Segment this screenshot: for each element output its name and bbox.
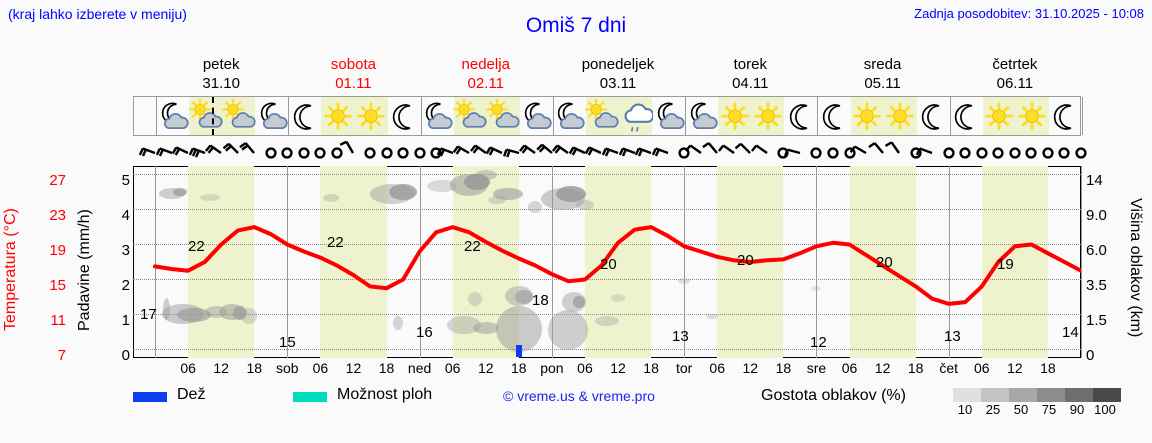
moon-icon: [949, 99, 983, 135]
sun-cloud-icon: [453, 99, 487, 135]
temperature-point-label: 17: [140, 306, 157, 323]
cloudheight-tick: 0: [1086, 347, 1120, 364]
moon-icon: [916, 99, 950, 135]
sun-icon: [850, 99, 884, 135]
x-tick-label: 06: [570, 360, 600, 376]
cloud-density-tick: 90: [1063, 402, 1091, 417]
sun-cloud-icon: [222, 99, 256, 135]
rain-swatch: [133, 392, 167, 402]
x-tick-label: sre: [801, 360, 831, 376]
temperature-tick: 27: [40, 172, 66, 189]
x-tick-label: 18: [768, 360, 798, 376]
sun-icon: [354, 99, 388, 135]
moon-icon: [784, 99, 818, 135]
chart-legend: Dež Možnost ploh © vreme.us & vreme.pro …: [133, 386, 1133, 412]
day-header-4: torek04.11: [684, 55, 816, 95]
x-tick-label: 06: [967, 360, 997, 376]
moon-icon: [784, 99, 818, 135]
day-date: 01.11: [287, 74, 419, 93]
moon-icon: [949, 99, 983, 135]
x-tick-label: 18: [1033, 360, 1063, 376]
temperature-axis-title: Temperatura (°C): [2, 170, 24, 370]
cloud-density-tick: 10: [951, 402, 979, 417]
x-tick-label: 12: [471, 360, 501, 376]
moon-cloud-icon: [420, 99, 454, 135]
day-name: sobota: [287, 55, 419, 74]
x-tick-label: 18: [901, 360, 931, 376]
rain-legend-label: Dež: [177, 386, 205, 404]
moon-cloud-icon: [255, 99, 289, 135]
day-name: sreda: [816, 55, 948, 74]
sun-icon: [718, 99, 752, 135]
moon-cloud-icon: [156, 99, 190, 135]
temperature-point-label: 14: [1062, 324, 1079, 341]
day-date: 31.10: [155, 74, 287, 93]
x-tick-label: tor: [669, 360, 699, 376]
moon-icon: [817, 99, 851, 135]
temperature-tick: 7: [40, 347, 66, 364]
cloud-density-swatch: [1093, 388, 1121, 402]
moon-cloud-icon: [420, 99, 454, 135]
temperature-point-label: 20: [876, 254, 893, 271]
temperature-point-label: 20: [737, 252, 754, 269]
cloud-density-swatch: [981, 388, 1009, 402]
day-name: ponedeljek: [552, 55, 684, 74]
x-tick-label: 18: [636, 360, 666, 376]
sun-icon: [982, 99, 1016, 135]
cloud-density-swatch: [1009, 388, 1037, 402]
x-tick-label: 18: [239, 360, 269, 376]
rain-cloud-icon: [619, 99, 653, 135]
precipitation-axis-title: Padavine (mm/h): [76, 170, 98, 370]
day-divider: [1081, 166, 1082, 358]
temperature-point-label: 15: [279, 334, 296, 351]
day-date: 05.11: [816, 74, 948, 93]
temperature-point-label: 20: [600, 256, 617, 273]
sun-icon: [850, 99, 884, 135]
sun-icon: [883, 99, 917, 135]
copyright-label[interactable]: © vreme.us & vreme.pro: [503, 388, 655, 404]
cloud-density-tick: 100: [1091, 402, 1119, 417]
x-tick-label: 06: [702, 360, 732, 376]
rain-cloud-icon: [619, 99, 653, 135]
sun-icon: [751, 99, 785, 135]
precipitation-tick: 4: [108, 207, 130, 224]
x-tick-label: 12: [206, 360, 236, 376]
cloudheight-axis: 149.06.03.51.50: [1086, 160, 1120, 370]
day-name: četrtek: [949, 55, 1081, 74]
cloud-density-swatch: [1037, 388, 1065, 402]
x-tick-label: 18: [372, 360, 402, 376]
x-tick-label: 06: [305, 360, 335, 376]
temperature-point-label: 16: [416, 324, 433, 341]
sun-cloud-icon: [585, 99, 619, 135]
x-tick-label: 12: [735, 360, 765, 376]
sun-cloud-icon: [486, 99, 520, 135]
day-headers: petek31.10sobota01.11nedelja02.11ponedel…: [133, 55, 1081, 95]
sun-icon: [718, 99, 752, 135]
day-name: nedelja: [420, 55, 552, 74]
moon-icon: [1048, 99, 1082, 135]
sun-icon: [1015, 99, 1049, 135]
temperature-point-label: 19: [997, 256, 1014, 273]
cloud-density-tick: 75: [1035, 402, 1063, 417]
precipitation-tick: 0: [108, 347, 130, 364]
sun-icon: [982, 99, 1016, 135]
x-tick-label: 06: [173, 360, 203, 376]
moon-icon: [387, 99, 421, 135]
temperature-tick: 23: [40, 207, 66, 224]
x-tick-label: 06: [438, 360, 468, 376]
temperature-tick: 11: [40, 312, 66, 329]
cloudheight-axis-title: Višina oblakov (km): [1122, 165, 1144, 370]
x-tick-label: čet: [934, 360, 964, 376]
precipitation-tick: 2: [108, 277, 130, 294]
sun-icon: [354, 99, 388, 135]
day-date: 03.11: [552, 74, 684, 93]
temperature-point-label: 13: [944, 328, 961, 345]
sun-icon: [883, 99, 917, 135]
moon-cloud-icon: [519, 99, 553, 135]
moon-cloud-icon: [519, 99, 553, 135]
moon-cloud-icon: [156, 99, 190, 135]
cloud-density-ticks: 1025507590100: [945, 402, 1125, 418]
temperature-point-label: 22: [188, 238, 205, 255]
cloud-density-swatch: [1065, 388, 1093, 402]
moon-icon: [387, 99, 421, 135]
x-tick-label: sob: [272, 360, 302, 376]
sun-cloud-icon: [453, 99, 487, 135]
day-header-5: sreda05.11: [816, 55, 948, 95]
showers-legend-label: Možnost ploh: [337, 386, 432, 404]
x-tick-label: 06: [835, 360, 865, 376]
x-axis-ticks: 061218sob061218ned061218pon061218tor0612…: [133, 360, 1081, 380]
day-header-3: ponedeljek03.11: [552, 55, 684, 95]
day-header-1: sobota01.11: [287, 55, 419, 95]
temperature-tick: 15: [40, 277, 66, 294]
sun-icon: [321, 99, 355, 135]
x-tick-label: pon: [537, 360, 567, 376]
cloud-density-scale: [953, 388, 1121, 402]
day-header-2: nedelja02.11: [420, 55, 552, 95]
moon-cloud-icon: [552, 99, 586, 135]
cloudheight-tick: 3.5: [1086, 277, 1120, 294]
x-tick-label: 12: [868, 360, 898, 376]
temperature-point-label: 12: [810, 334, 827, 351]
sun-icon: [321, 99, 355, 135]
day-date: 06.11: [949, 74, 1081, 93]
cloud-density-tick: 25: [979, 402, 1007, 417]
temperature-axis: 27231915117: [40, 160, 66, 370]
moon-icon: [1048, 99, 1082, 135]
moon-cloud-icon: [552, 99, 586, 135]
precipitation-tick: 1: [108, 312, 130, 329]
sun-icon: [1015, 99, 1049, 135]
moon-cloud-icon: [685, 99, 719, 135]
moon-icon: [288, 99, 322, 135]
cloud-density-swatch: [953, 388, 981, 402]
cloudheight-tick: 9.0: [1086, 207, 1120, 224]
temperature-point-label: 13: [672, 328, 689, 345]
day-date: 02.11: [420, 74, 552, 93]
cloud-density-tick: 50: [1007, 402, 1035, 417]
wind-barb-row: [133, 138, 1081, 164]
cloud-density-label: Gostota oblakov (%): [761, 387, 906, 405]
sun-cloud-icon: [585, 99, 619, 135]
cloudheight-tick: 6.0: [1086, 242, 1120, 259]
sun-cloud-icon: [486, 99, 520, 135]
temperature-point-label: 18: [532, 292, 549, 309]
sun-icon: [751, 99, 785, 135]
x-tick-label: 18: [504, 360, 534, 376]
x-tick-label: 12: [603, 360, 633, 376]
day-date: 04.11: [684, 74, 816, 93]
moon-icon: [817, 99, 851, 135]
x-tick-label: 12: [1000, 360, 1030, 376]
sun-cloud-icon: [189, 99, 223, 135]
moon-cloud-icon: [685, 99, 719, 135]
weather-icon-row: [133, 96, 1081, 136]
precipitation-tick: 3: [108, 242, 130, 259]
precipitation-tick: 5: [108, 172, 130, 189]
moon-icon: [288, 99, 322, 135]
x-tick-label: 12: [338, 360, 368, 376]
temperature-point-label: 22: [327, 234, 344, 251]
temperature-tick: 19: [40, 242, 66, 259]
sun-cloud-icon: [189, 99, 223, 135]
current-time-marker: [212, 97, 214, 135]
day-header-6: četrtek06.11: [949, 55, 1081, 95]
sun-cloud-icon: [222, 99, 256, 135]
moon-cloud-icon: [652, 99, 686, 135]
temperature-point-label: 22: [464, 238, 481, 255]
day-name: torek: [684, 55, 816, 74]
day-header-0: petek31.10: [155, 55, 287, 95]
cloudheight-tick: 1.5: [1086, 312, 1120, 329]
x-tick-label: ned: [405, 360, 435, 376]
cloudheight-tick: 14: [1086, 172, 1120, 189]
moon-cloud-icon: [652, 99, 686, 135]
day-name: petek: [155, 55, 287, 74]
moon-icon: [916, 99, 950, 135]
forecast-plot: 172215221622182013201220131914: [133, 166, 1081, 358]
last-updated: Zadnja posodobitev: 31.10.2025 - 10:08: [914, 6, 1144, 21]
showers-swatch: [293, 392, 327, 402]
precipitation-axis: 543210: [108, 160, 130, 370]
moon-cloud-icon: [255, 99, 289, 135]
